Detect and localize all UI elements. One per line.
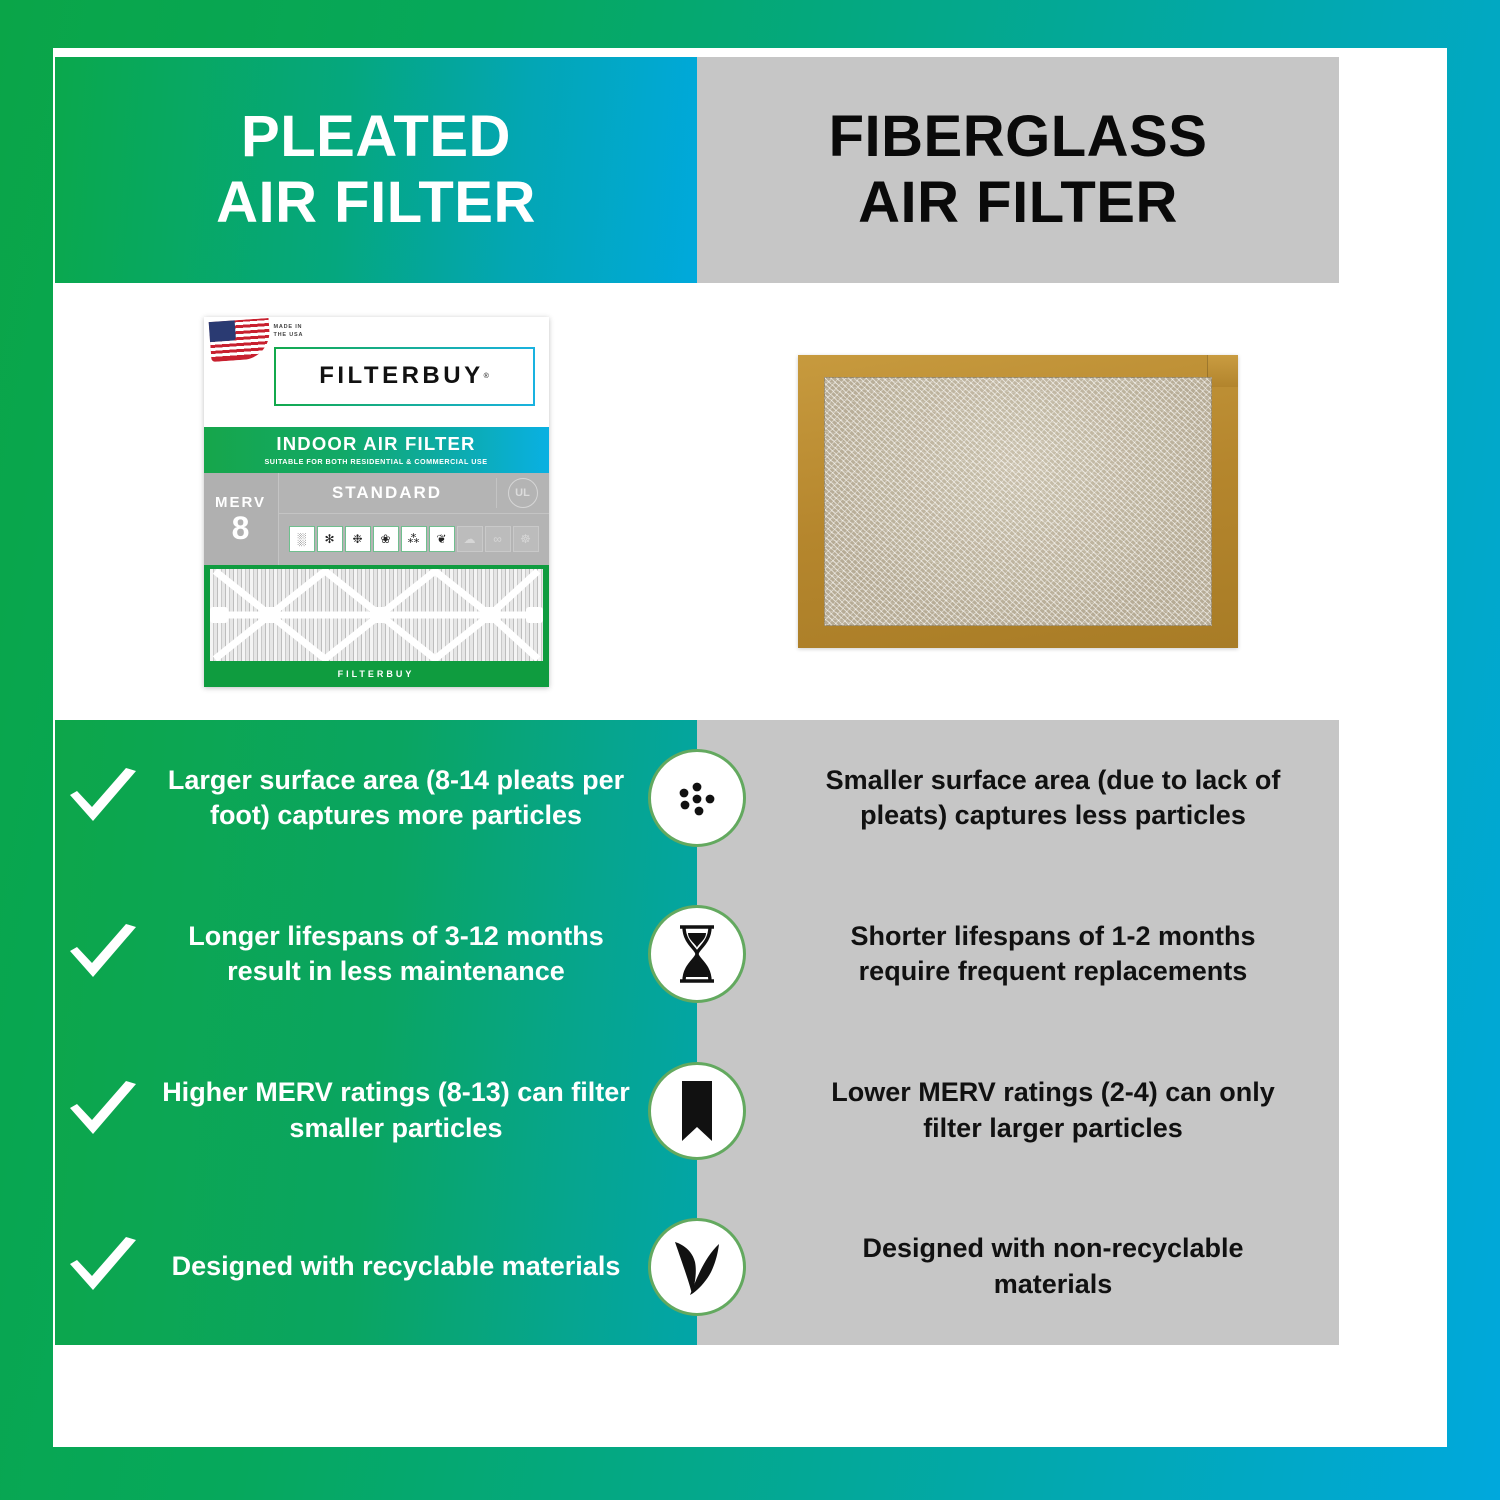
filterbuy-filter-box: MADE IN THE USA FILTERBUY® INDOOR AIR FI… [204, 317, 549, 687]
particles-icon [648, 749, 746, 847]
header-fiberglass-line1: FIBERGLASS [829, 104, 1208, 169]
header-pleated: PLEATED AIR FILTER [55, 57, 697, 283]
pollen-icon: ❉ [345, 526, 371, 552]
grade-label: STANDARD [279, 483, 496, 503]
row-right-cell: Shorter lifespans of 1-2 months require … [697, 919, 1339, 990]
indoor-air-filter-band: INDOOR AIR FILTER SUITABLE FOR BOTH RESI… [204, 427, 549, 473]
support-wire-icon [210, 569, 543, 661]
pleated-product-cell: MADE IN THE USA FILTERBUY® INDOOR AIR FI… [55, 283, 697, 720]
header-pleated-line2: AIR FILTER [216, 170, 536, 235]
product-images-row: MADE IN THE USA FILTERBUY® INDOOR AIR FI… [55, 283, 1339, 720]
spec-block: MERV 8 STANDARD UL ░ ✻ ❉ ❀ [204, 473, 549, 565]
check-icon [55, 1236, 151, 1298]
mold-icon: ❀ [373, 526, 399, 552]
made-in-line2: THE USA [274, 331, 304, 340]
dust-lint-icon: ░ [289, 526, 315, 552]
row-right-text: Lower MERV ratings (2-4) can only filter… [801, 1075, 1305, 1146]
ul-cell: UL [496, 478, 549, 508]
usa-flag-icon [208, 317, 271, 361]
comparison-row: Designed with recyclable materials Desig… [55, 1189, 1339, 1345]
flag-union [208, 320, 235, 342]
capability-icon-row: ░ ✻ ❉ ❀ ⁂ ❦ ☁ ∞ ☸ [279, 514, 549, 565]
row-left-cell: Designed with recyclable materials [55, 1236, 697, 1298]
merv-badge: MERV 8 [204, 473, 279, 565]
made-in-line1: MADE IN [274, 323, 304, 332]
hourglass-icon [648, 905, 746, 1003]
pleated-media-window: FILTERBUY [204, 565, 549, 687]
smoke-icon: ☁ [457, 526, 483, 552]
merv-label: MERV [215, 494, 266, 511]
pet-dander-icon: ❦ [429, 526, 455, 552]
ul-certification-icon: UL [508, 478, 538, 508]
virus-icon: ☸ [513, 526, 539, 552]
comparison-row: Longer lifespans of 3-12 months result i… [55, 876, 1339, 1032]
filterbuy-logo: FILTERBUY® [274, 347, 535, 406]
comparison-row: Larger surface area (8-14 pleats per foo… [55, 720, 1339, 876]
fiberglass-media [824, 377, 1212, 626]
leaf-icon [648, 1218, 746, 1316]
fiberglass-filter-image [798, 355, 1238, 648]
band-subtitle: SUITABLE FOR BOTH RESIDENTIAL & COMMERCI… [264, 457, 487, 466]
bookmark-icon [648, 1062, 746, 1160]
grade-row: STANDARD UL [279, 473, 549, 514]
brand-name: FILTERBUY [319, 362, 483, 390]
row-right-text: Designed with non-recyclable materials [801, 1231, 1305, 1302]
check-icon [55, 1080, 151, 1142]
comparison-panel: Larger surface area (8-14 pleats per foo… [55, 720, 1339, 1345]
merv-value: 8 [232, 512, 250, 544]
row-left-cell: Higher MERV ratings (8-13) can filter sm… [55, 1075, 697, 1146]
row-left-text: Larger surface area (8-14 pleats per foo… [151, 763, 641, 834]
check-icon [55, 923, 151, 985]
header-fiberglass-line2: AIR FILTER [858, 170, 1178, 235]
made-in-usa-text: MADE IN THE USA [274, 323, 304, 341]
spec-grid: STANDARD UL ░ ✻ ❉ ❀ ⁂ ❦ ☁ ∞ ☸ [279, 473, 549, 565]
comparison-rows: Larger surface area (8-14 pleats per foo… [55, 720, 1339, 1345]
row-left-text: Higher MERV ratings (8-13) can filter sm… [151, 1075, 641, 1146]
row-right-text: Shorter lifespans of 1-2 months require … [801, 919, 1305, 990]
band-title: INDOOR AIR FILTER [276, 433, 475, 455]
row-right-cell: Designed with non-recyclable materials [697, 1231, 1339, 1302]
row-left-text: Designed with recyclable materials [151, 1249, 641, 1285]
row-right-cell: Lower MERV ratings (2-4) can only filter… [697, 1075, 1339, 1146]
dust-mites-icon: ✻ [317, 526, 343, 552]
box-top-section: MADE IN THE USA FILTERBUY® [204, 317, 549, 427]
header-bar: PLEATED AIR FILTER FIBERGLASS AIR FILTER [55, 57, 1339, 283]
header-pleated-line1: PLEATED [241, 104, 511, 169]
row-left-cell: Longer lifespans of 3-12 months result i… [55, 919, 697, 990]
check-icon [55, 767, 151, 829]
comparison-row: Higher MERV ratings (8-13) can filter sm… [55, 1033, 1339, 1189]
row-left-cell: Larger surface area (8-14 pleats per foo… [55, 763, 697, 834]
pleat-texture [210, 569, 543, 661]
row-left-text: Longer lifespans of 3-12 months result i… [151, 919, 641, 990]
brand-trademark: ® [484, 373, 489, 380]
header-fiberglass: FIBERGLASS AIR FILTER [697, 57, 1339, 283]
row-right-cell: Smaller surface area (due to lack of ple… [697, 763, 1339, 834]
row-right-text: Smaller surface area (due to lack of ple… [801, 763, 1305, 834]
fiberglass-product-cell [697, 283, 1339, 720]
box-footer-brand: FILTERBUY [210, 661, 543, 687]
lint-icon: ⁂ [401, 526, 427, 552]
bacteria-icon: ∞ [485, 526, 511, 552]
